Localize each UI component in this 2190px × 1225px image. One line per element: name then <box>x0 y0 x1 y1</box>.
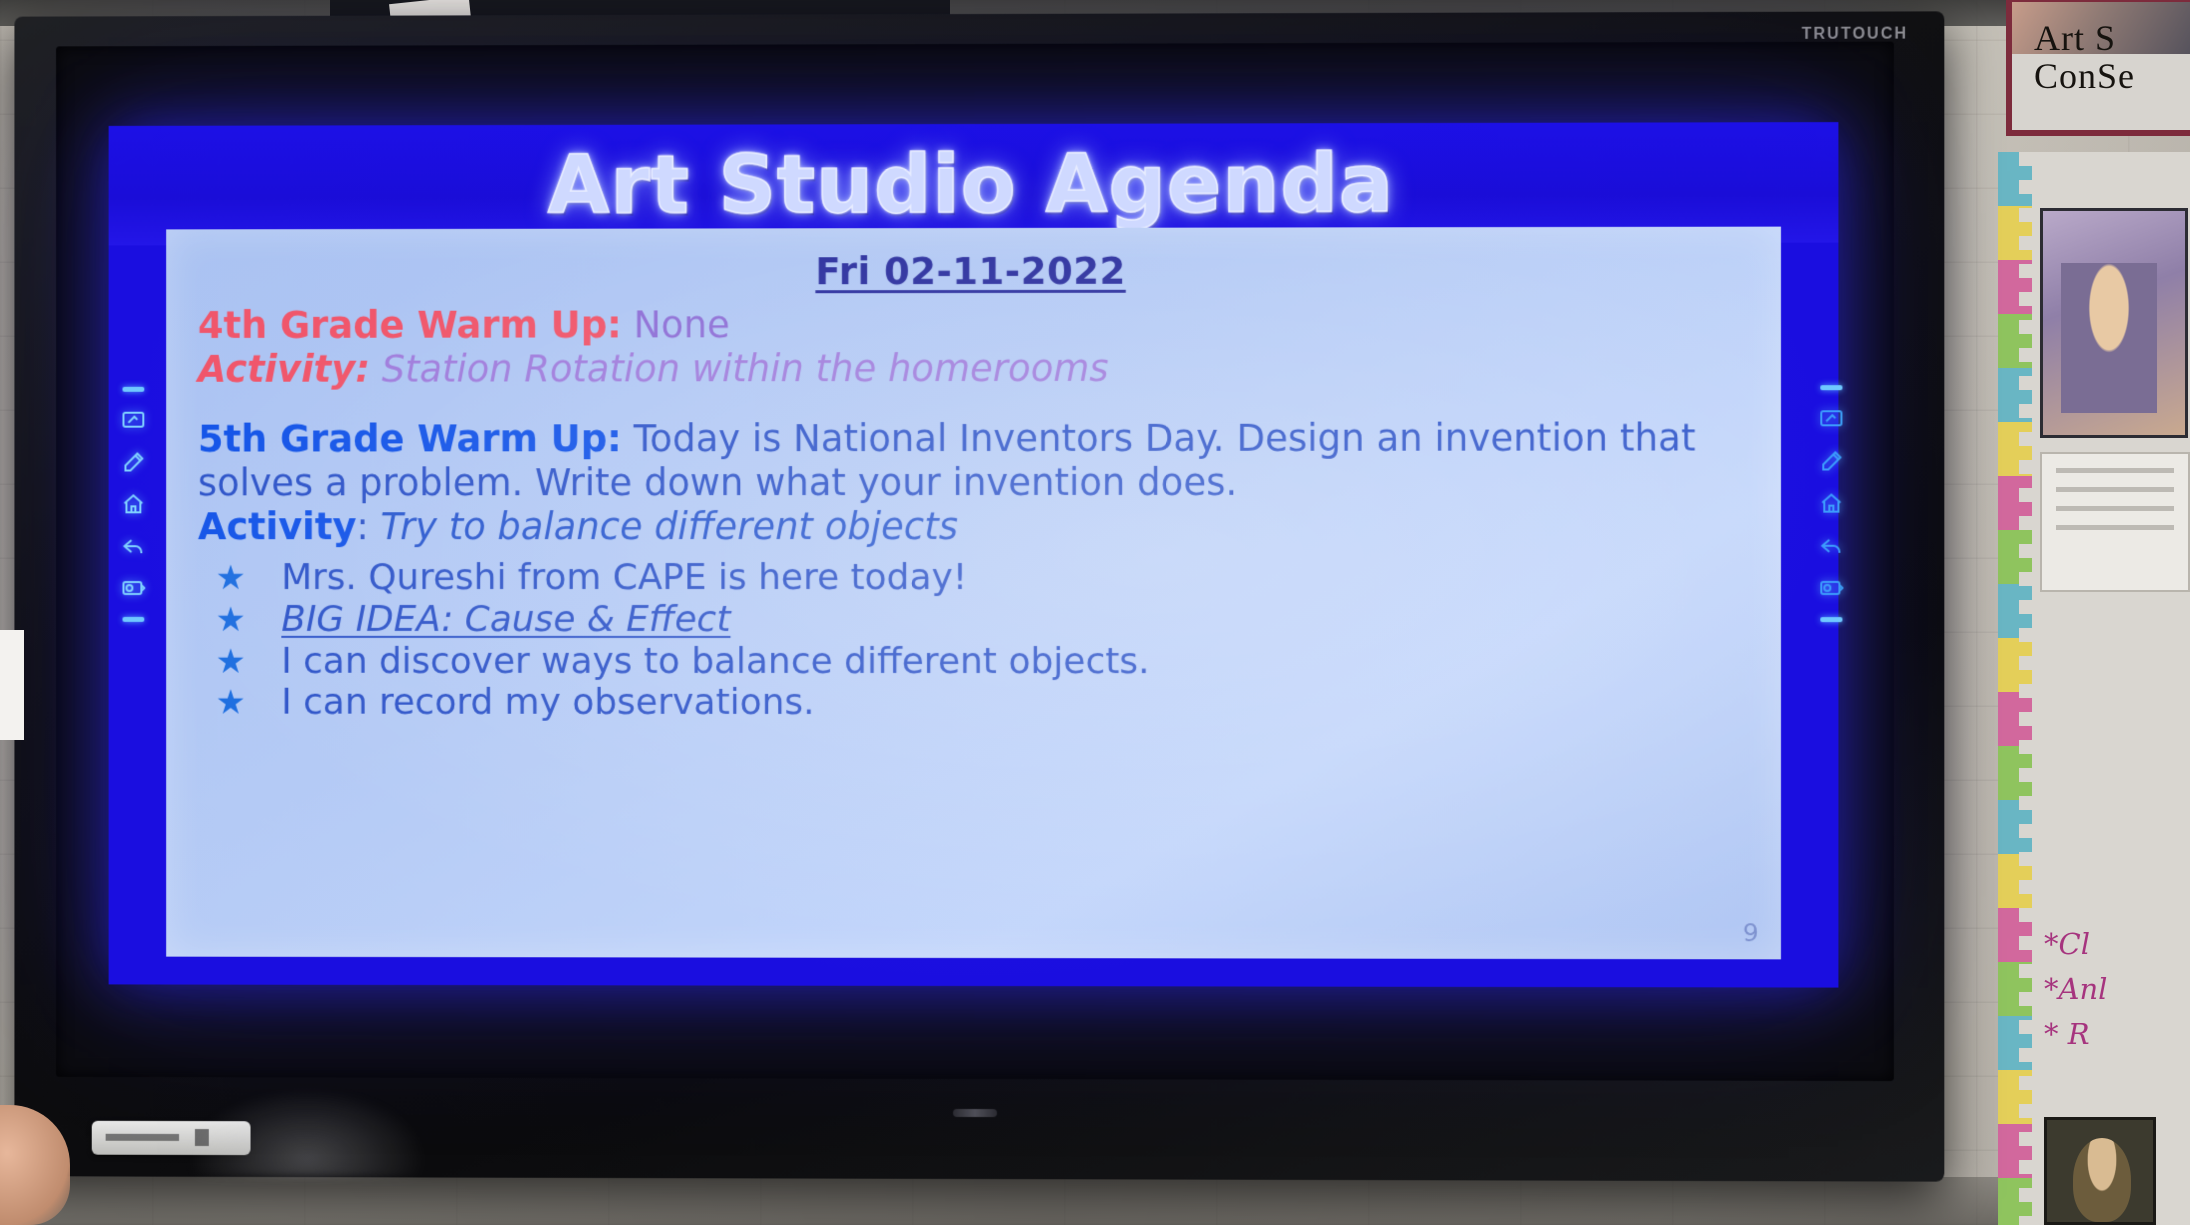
handwritten-list: *Cl *Anl * R <box>2044 922 2190 1057</box>
grade5-activity-value: Try to balance different objects <box>380 505 957 548</box>
back-arrow-icon[interactable] <box>1818 533 1844 559</box>
grade5-activity-line: Activity: Try to balance different objec… <box>198 505 1741 550</box>
grade4-activity-value: Station Rotation within the homerooms <box>382 347 1109 391</box>
minimize-dash-icon[interactable] <box>122 617 144 622</box>
minimize-dash-icon[interactable] <box>1820 617 1842 622</box>
grade4-warmup-label: 4th Grade Warm Up: <box>198 303 622 346</box>
annotate-screen-icon[interactable] <box>121 408 147 434</box>
screen-capture-icon[interactable] <box>121 575 147 601</box>
minimize-dash-icon[interactable] <box>122 387 144 392</box>
note-rule-line <box>2056 487 2174 492</box>
grade5-warmup-line: 5th Grade Warm Up: Today is National Inv… <box>198 416 1741 505</box>
floor-strip <box>0 1177 2190 1225</box>
handwritten-item: *Cl <box>2044 922 2190 967</box>
handwritten-item: *Anl <box>2044 967 2190 1012</box>
list-item: ★ I can record my observations. <box>198 682 1741 725</box>
note-rule-line <box>2056 506 2174 511</box>
list-item: ★ BIG IDEA: Cause & Effect <box>198 599 1741 641</box>
objectives-list: ★ Mrs. Qureshi from CAPE is here today! … <box>198 557 1741 725</box>
note-rule-line <box>2056 525 2174 530</box>
star-icon: ★ <box>214 684 248 723</box>
interactive-flat-panel: TRUTOUCH Art Studio Agenda Fri 02-11-202… <box>14 11 1944 1181</box>
minimize-dash-icon[interactable] <box>1820 385 1842 390</box>
pen-icon[interactable] <box>1818 448 1844 474</box>
star-icon: ★ <box>214 601 248 640</box>
handwritten-item: * R <box>2044 1012 2190 1057</box>
onscreen-toolbar-right[interactable] <box>1813 385 1849 622</box>
student-artwork-card <box>2040 208 2188 438</box>
star-icon: ★ <box>214 642 248 681</box>
note-rule-line <box>2056 468 2174 473</box>
panel-screen[interactable]: Art Studio Agenda Fri 02-11-2022 4th Gra… <box>109 122 1839 987</box>
grade5-activity-separator: : <box>356 505 368 548</box>
grade4-warmup-value: None <box>634 303 730 346</box>
white-paper-edge <box>0 630 24 740</box>
slide-page-number: 9 <box>1743 918 1759 947</box>
list-item-label: Mrs. Qureshi from CAPE is here today! <box>281 557 967 599</box>
list-item: ★ Mrs. Qureshi from CAPE is here today! <box>198 557 1741 599</box>
pinned-paper-note <box>2040 452 2190 592</box>
slide-body-text: 4th Grade Warm Up: None Activity: Statio… <box>166 292 1781 725</box>
grade5-warmup-label: 5th Grade Warm Up: <box>198 417 622 460</box>
bezel-smudge <box>183 1085 431 1177</box>
poster-line-1: Art S <box>2034 20 2135 58</box>
slide-date: Fri 02-11-2022 <box>166 249 1781 294</box>
star-border-trim <box>1998 152 2032 1225</box>
home-icon[interactable] <box>1818 491 1844 517</box>
section-spacer <box>198 390 1741 417</box>
back-arrow-icon[interactable] <box>121 533 147 559</box>
star-icon: ★ <box>214 559 248 598</box>
home-icon[interactable] <box>121 491 147 517</box>
annotate-screen-icon[interactable] <box>1818 406 1844 432</box>
screen-capture-icon[interactable] <box>1818 575 1844 601</box>
poster-text: Art S ConSe <box>2034 20 2135 96</box>
list-item-label: I can discover ways to balance different… <box>281 640 1149 682</box>
poster-line-2: ConSe <box>2034 58 2135 96</box>
grade5-activity-label: Activity <box>198 505 356 548</box>
onscreen-toolbar-left[interactable] <box>116 387 152 622</box>
list-item-label: I can record my observations. <box>281 682 814 724</box>
grade4-warmup-line: 4th Grade Warm Up: None <box>198 302 1741 348</box>
list-item-label-big-idea: BIG IDEA: Cause & Effect <box>281 599 730 641</box>
wall-bulletin-board: *Cl *Anl * R <box>1998 152 2190 1225</box>
ir-sensor <box>953 1109 997 1117</box>
pen-icon[interactable] <box>121 450 147 476</box>
page-title: Art Studio Agenda <box>548 137 1394 232</box>
slide-content-card: Fri 02-11-2022 4th Grade Warm Up: None A… <box>166 227 1781 960</box>
wall-poster-art-conservation: Art S ConSe <box>2006 0 2190 136</box>
grade4-activity-label: Activity: <box>198 348 370 391</box>
mona-lisa-mini-print <box>2044 1117 2156 1225</box>
grade4-activity-line: Activity: Station Rotation within the ho… <box>198 346 1741 392</box>
list-item: ★ I can discover ways to balance differe… <box>198 640 1741 682</box>
